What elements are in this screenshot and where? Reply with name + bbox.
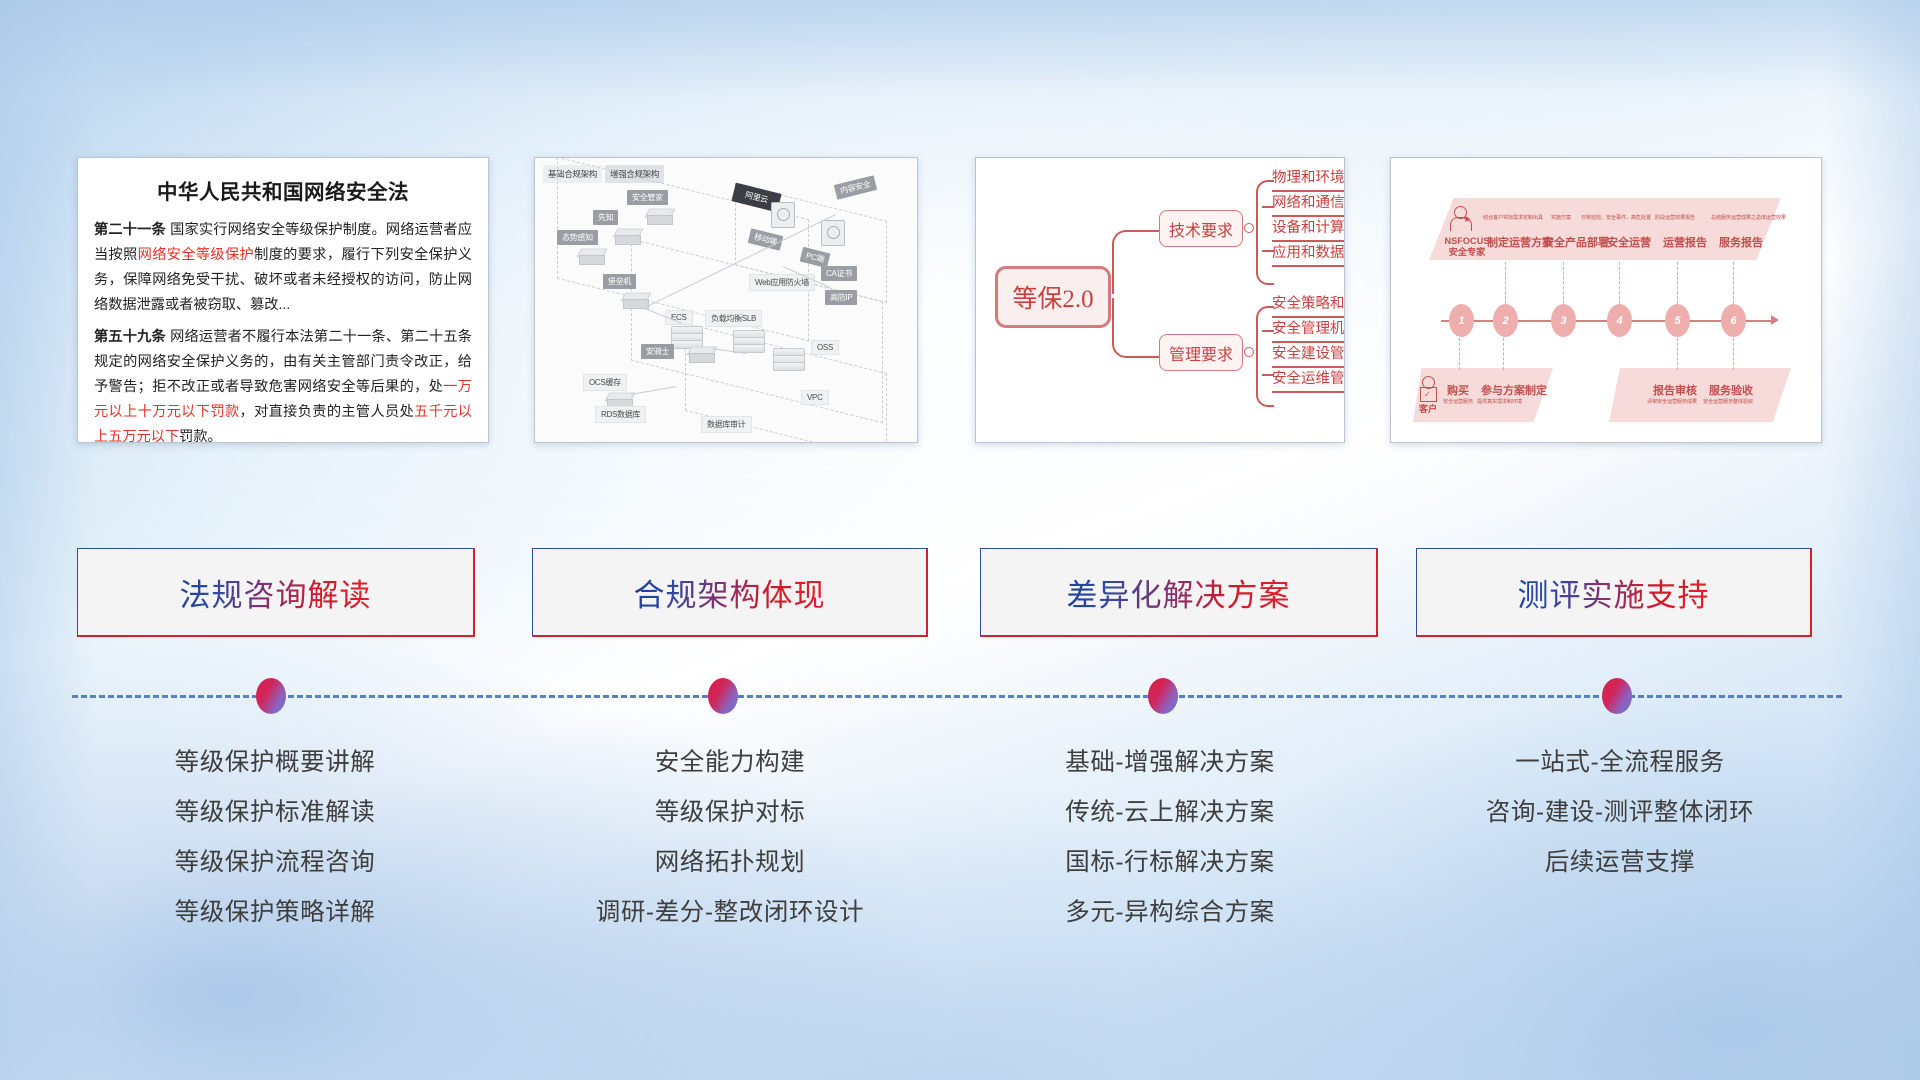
timeline-main-4: 运营报告 (1663, 234, 1707, 250)
icon-cube-xianzhi (613, 226, 641, 248)
feature-list-1: 安全能力构建 等级保护对标 网络拓扑规划 调研-差分-整改闭环设计 (505, 738, 955, 938)
client-check-icon: ✓ (1424, 390, 1431, 399)
label-bastion-host: 堡垒机 (603, 274, 636, 289)
timeline-node-6[interactable]: 6 (1721, 304, 1746, 337)
timeline-node-3[interactable]: 3 (1551, 304, 1576, 337)
mindmap-branch-technical: 技术要求 (1159, 210, 1243, 247)
mindmap-center-node: 等保2.0 (995, 266, 1111, 328)
list-item: 等级保护对标 (505, 788, 955, 838)
architecture-canvas: 阿里云 态势感知 先知 安全管家 堡垒机 ECS 安骑士 OCS缓存 RDS数据… (535, 158, 917, 442)
expert-star-icon: ★ (1463, 214, 1471, 225)
connector-cache-db (631, 386, 676, 395)
label-content-security: 内容安全 (834, 175, 877, 199)
timeline-tick-up-3 (1563, 262, 1564, 304)
label-database-audit: 数据库审计 (701, 416, 752, 433)
timeline-node-2[interactable]: 2 (1493, 304, 1518, 337)
timeline-sub-4: 阶段运营效果报告 (1655, 214, 1695, 221)
timeline-marker-2[interactable] (1148, 678, 1178, 714)
mindmap-leaf-build-mgmt: 安全建设管理 (1272, 342, 1345, 368)
law-article-59-label: 第五十九条 (94, 329, 166, 345)
timeline-bottom-sub-4: 安全运营服务整体验收 (1703, 398, 1753, 405)
card-cybersecurity-law[interactable]: 中华人民共和国网络安全法 第二十一条 国家实行网络安全等级保护制度。网络运营者应… (77, 157, 489, 443)
label-rds-database: RDS数据库 (595, 406, 646, 423)
mindmap-collapse-dot-management[interactable] (1244, 347, 1254, 357)
card-compliance-architecture[interactable]: 基础合规架构 增强合规架构 阿里云 态势感知 先知 安全管家 堡垒机 ECS 安… (534, 157, 918, 443)
timeline-bottom-main-1: 购买 (1447, 382, 1469, 398)
card-djcp-mindmap[interactable]: 等保2.0 技术要求 物理和环境安全 网络和通信安全 设备和计算安全 应用和数据… (975, 157, 1345, 443)
law-article-21-highlight: 网络安全等级保护 (138, 247, 254, 263)
list-item: 后续运营支撑 (1395, 838, 1845, 888)
list-item: 多元-异构综合方案 (945, 888, 1395, 938)
feature-list-3: 一站式-全流程服务 咨询-建设-测评整体闭环 后续运营支撑 (1395, 738, 1845, 888)
label-situational-awareness: 态势感知 (557, 230, 598, 245)
mindmap-leaf-network-comm: 网络和通信安全 (1272, 191, 1345, 217)
list-item: 咨询-建设-测评整体闭环 (1395, 788, 1845, 838)
timeline-bottom-sub-2: 提供真实需求和环境 (1477, 398, 1522, 405)
timeline-tick-down-2 (1503, 338, 1504, 370)
list-item: 等级保护流程咨询 (50, 838, 500, 888)
list-item: 调研-差分-整改闭环设计 (505, 888, 955, 938)
label-ocs-cache: OCS缓存 (583, 374, 627, 391)
icon-cube-security-butler (645, 206, 673, 228)
mindmap-leaf-device-compute: 设备和计算安全 (1272, 216, 1345, 242)
client-person-icon: ✓ (1417, 376, 1439, 402)
timeline-sub-3: 日常巡检、安全事件、高危处置 (1581, 214, 1651, 221)
mindmap-collapse-dot-technical[interactable] (1244, 223, 1254, 233)
mindmap-leaf-ops-mgmt: 安全运维管理 (1272, 367, 1345, 393)
list-item: 等级保护标准解读 (50, 788, 500, 838)
timeline-canvas: ★ NSFOCUS 安全专家 结合客户实际需求定制出具 制定运营方案 实施方案 … (1391, 158, 1821, 442)
list-item: 一站式-全流程服务 (1395, 738, 1845, 788)
section-heading-box-3[interactable]: 测评实施支持 (1416, 548, 1812, 637)
mindmap-leaf-app-data: 应用和数据安全 (1272, 241, 1345, 267)
timeline-tick-down-1 (1459, 338, 1460, 370)
card-service-timeline[interactable]: ★ NSFOCUS 安全专家 结合客户实际需求定制出具 制定运营方案 实施方案 … (1390, 157, 1822, 443)
expert-person-icon: ★ (1449, 206, 1471, 232)
icon-monitor-pc (821, 220, 845, 246)
timeline-tick-up-4 (1619, 262, 1620, 304)
timeline-main-3: 安全运营 (1607, 234, 1651, 250)
section-heading-label-1: 合规架构体现 (634, 570, 826, 615)
timeline-tick-down-6 (1733, 338, 1734, 370)
timeline-node-4[interactable]: 4 (1607, 304, 1632, 337)
timeline-sub-2: 实施方案 (1551, 214, 1571, 221)
law-card-body: 中华人民共和国网络安全法 第二十一条 国家实行网络安全等级保护制度。网络运营者应… (78, 158, 488, 442)
label-ca-certificate: CA证书 (821, 266, 857, 281)
timeline-marker-1[interactable] (708, 678, 738, 714)
icon-monitor-mobile (771, 202, 795, 228)
timeline-sub-1: 结合客户实际需求定制出具 (1483, 214, 1543, 221)
section-heading-box-1[interactable]: 合规架构体现 (532, 548, 928, 637)
mindmap-leaf-org-personnel: 安全管理机构和人员 (1272, 317, 1345, 343)
law-article-59-text-c: 罚款。 (179, 429, 222, 443)
timeline-tick-up-6 (1733, 262, 1734, 304)
list-item: 等级保护概要讲解 (50, 738, 500, 788)
timeline-sub-5: 总结服务运营成果之总体运营效果 (1711, 214, 1786, 221)
mindmap-spine-tech (1112, 230, 1160, 294)
timeline-marker-3[interactable] (1602, 678, 1632, 714)
dashed-timeline-line (72, 695, 1842, 698)
section-heading-label-3: 测评实施支持 (1518, 570, 1710, 615)
timeline-node-1[interactable]: 1 (1449, 304, 1474, 337)
timeline-main-2: 安全产品部署 (1543, 234, 1609, 250)
mindmap-branch-management: 管理要求 (1159, 334, 1243, 371)
section-heading-box-0[interactable]: 法规咨询解读 (77, 548, 475, 637)
timeline-band-client-right (1609, 368, 1791, 422)
timeline-main-5: 服务报告 (1719, 234, 1763, 250)
label-oss: OSS (811, 340, 839, 355)
list-item: 安全能力构建 (505, 738, 955, 788)
label-vpc: VPC (801, 390, 829, 405)
timeline-node-5[interactable]: 5 (1665, 304, 1690, 337)
law-title: 中华人民共和国网络安全法 (94, 175, 472, 205)
mindmap-leaf-policy-system: 安全策略和管理制度 (1272, 292, 1345, 318)
timeline-tick-down-5 (1677, 338, 1678, 370)
timeline-tick-up-5 (1677, 262, 1678, 304)
thumbnail-row: 中华人民共和国网络安全法 第二十一条 国家实行网络安全等级保护制度。网络运营者应… (0, 0, 1920, 450)
label-xianzhi: 先知 (593, 210, 618, 225)
label-security-butler: 安全管家 (627, 190, 668, 205)
mindmap-spine-mgmt (1112, 298, 1160, 358)
mindmap-leaf-physical-env: 物理和环境安全 (1272, 166, 1345, 192)
timeline-bottom-main-2: 参与方案制定 (1481, 382, 1547, 398)
timeline-marker-0[interactable] (256, 678, 286, 714)
mindmap-canvas: 等保2.0 技术要求 物理和环境安全 网络和通信安全 设备和计算安全 应用和数据… (976, 158, 1344, 442)
feature-list-0: 等级保护概要讲解 等级保护标准解读 等级保护流程咨询 等级保护策略详解 (50, 738, 500, 938)
feature-list-2: 基础-增强解决方案 传统-云上解决方案 国标-行标解决方案 多元-异构综合方案 (945, 738, 1395, 938)
label-slb: 负载均衡SLB (705, 310, 762, 327)
timeline-bottom-sub-3: 评审安全运营服务成果 (1647, 398, 1697, 405)
section-heading-box-2[interactable]: 差异化解决方案 (980, 548, 1378, 637)
section-heading-label-2: 差异化解决方案 (1067, 570, 1291, 615)
law-article-21: 第二十一条 国家实行网络安全等级保护制度。网络运营者应当按照网络安全等级保护制度… (94, 218, 472, 318)
section-heading-label-0: 法规咨询解读 (180, 570, 372, 615)
client-label: 客户 (1411, 404, 1445, 415)
list-item: 国标-行标解决方案 (945, 838, 1395, 888)
timeline-bottom-sub-1: 安全运营服务 (1443, 398, 1473, 405)
list-item: 基础-增强解决方案 (945, 738, 1395, 788)
law-article-59: 第五十九条 网络运营者不履行本法第二十一条、第二十五条规定的网络安全保护义务的，… (94, 325, 472, 443)
timeline-axis-arrow-icon (1771, 315, 1779, 325)
law-article-21-label: 第二十一条 (94, 222, 166, 238)
list-item: 等级保护策略详解 (50, 888, 500, 938)
list-item: 传统-云上解决方案 (945, 788, 1395, 838)
icon-server-slb (733, 330, 763, 354)
list-item: 网络拓扑规划 (505, 838, 955, 888)
timeline-tick-up-2 (1505, 262, 1506, 304)
icon-server-slb-2 (773, 348, 803, 372)
label-anqishi: 安骑士 (641, 344, 674, 359)
label-anti-ddos-ip: 高防IP (825, 290, 857, 305)
icon-cube-situational-awareness (577, 246, 605, 268)
timeline-bottom-main-4: 服务验收 (1709, 382, 1753, 398)
timeline-bottom-main-3: 报告审核 (1653, 382, 1697, 398)
law-article-59-text-b: ，对直接负责的主管人员处 (240, 404, 415, 420)
